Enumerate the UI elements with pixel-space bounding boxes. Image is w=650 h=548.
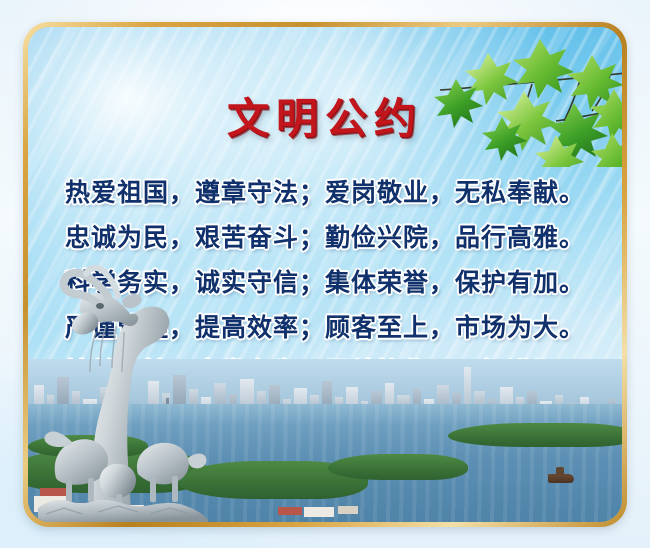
poster-inner-panel: 文明公约 热爱祖国，遵章守法；爱岗敬业，无私奉献。 忠诚为民，艰苦奋斗；勤俭兴院… bbox=[28, 27, 622, 522]
foreground-building bbox=[338, 506, 358, 514]
pledge-line-2: 忠诚为民，艰苦奋斗；勤俭兴院，品行高雅。 bbox=[65, 218, 585, 254]
poster-canvas: 文明公约 热爱祖国，遵章守法；爱岗敬业，无私奉献。 忠诚为民，艰苦奋斗；勤俭兴院… bbox=[0, 0, 650, 548]
foreground-building bbox=[304, 507, 334, 517]
riverbank-greenery bbox=[448, 423, 622, 447]
five-rams-statue bbox=[38, 262, 208, 522]
pledge-line-1: 热爱祖国，遵章守法；爱岗敬业，无私奉献。 bbox=[65, 173, 585, 209]
foreground-building bbox=[278, 507, 302, 515]
river-boat-icon bbox=[548, 474, 574, 483]
poster-title: 文明公约 bbox=[28, 85, 622, 146]
riverbank-greenery bbox=[328, 454, 468, 480]
gold-frame-border: 文明公约 热爱祖国，遵章守法；爱岗敬业，无私奉献。 忠诚为民，艰苦奋斗；勤俭兴院… bbox=[23, 22, 627, 527]
